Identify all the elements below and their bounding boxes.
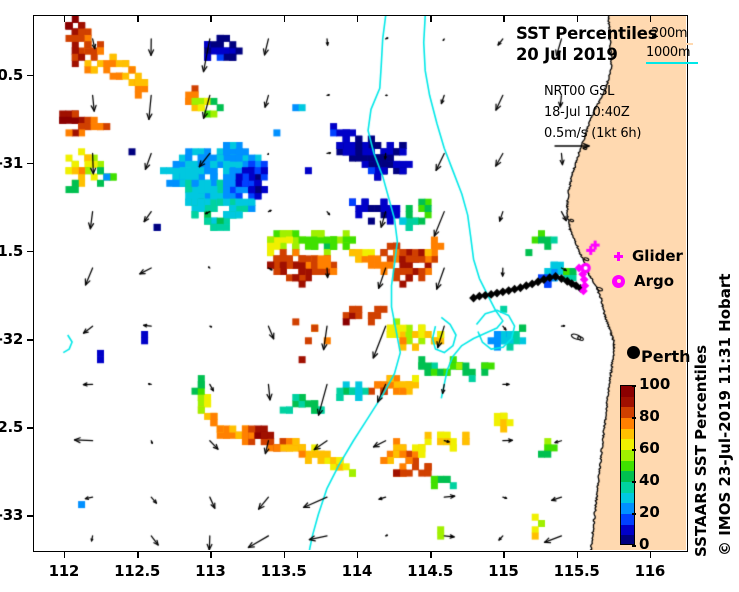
y-tick xyxy=(27,163,34,165)
colorbar-band xyxy=(621,493,634,504)
x-tick-top xyxy=(650,15,652,22)
copyright-credit: © IMOS 23-Jul-2019 11:31 Hobart xyxy=(716,274,734,556)
x-tick-label: 112.5 xyxy=(105,562,169,580)
x-tick-label: 112 xyxy=(32,562,96,580)
colorbar-tick-label: 60 xyxy=(639,439,660,457)
map-plot-area: SST Percentiles 20 Jul 2019 200m 1000m N… xyxy=(33,15,688,552)
legend-label-glider: Glider xyxy=(632,247,683,265)
y-tick-label: -30.5 xyxy=(0,66,23,84)
colorbar-tick xyxy=(632,449,636,451)
x-tick xyxy=(577,551,579,558)
x-tick-top xyxy=(577,15,579,22)
colorbar-band xyxy=(621,514,634,525)
x-tick-top xyxy=(357,15,359,22)
x-tick xyxy=(64,551,66,558)
x-tick-top xyxy=(64,15,66,22)
x-tick-label: 116 xyxy=(618,562,682,580)
y-tick xyxy=(27,75,34,77)
colorbar-tick xyxy=(632,481,636,483)
colorbar-tick xyxy=(632,513,636,515)
colorbar-tick-label: 40 xyxy=(639,471,660,489)
y-tick xyxy=(27,339,34,341)
colorbar-band xyxy=(621,429,634,440)
colorbar-band xyxy=(621,461,634,472)
page-subtitle-date: 20 Jul 2019 xyxy=(516,45,618,64)
colorbar-band xyxy=(621,535,634,545)
x-tick-top xyxy=(137,15,139,22)
y-tick-label: -33 xyxy=(0,506,23,524)
colorbar-band xyxy=(621,450,634,461)
colorbar-tick-label: 0 xyxy=(639,535,649,553)
x-tick-label: 114 xyxy=(325,562,389,580)
colorbar-tick-label: 100 xyxy=(639,375,670,393)
page-title: SST Percentiles xyxy=(516,24,657,43)
colorbar-band xyxy=(621,525,634,536)
glider-cross-icon xyxy=(614,252,623,261)
y-tick-label: -31.5 xyxy=(0,242,23,260)
legend-label-argo: Argo xyxy=(634,272,674,290)
x-tick-top xyxy=(430,15,432,22)
metadata-vector-scale: 0.5m/s (1kt 6h) xyxy=(544,126,641,141)
bathymetry-line-1000m xyxy=(646,62,698,64)
colorbar-tick xyxy=(632,545,636,547)
y-tick xyxy=(27,251,34,253)
y-tick-label: -31 xyxy=(0,154,23,172)
perth-city-dot xyxy=(627,346,640,359)
colorbar-band xyxy=(621,482,634,493)
x-tick xyxy=(210,551,212,558)
colorbar-band xyxy=(621,397,634,408)
legend-item-argo: Argo xyxy=(612,272,674,290)
x-tick xyxy=(137,551,139,558)
colorbar-tick xyxy=(632,385,636,387)
argo-circle-icon xyxy=(612,275,625,288)
bathymetry-label-1000m: 1000m xyxy=(646,45,690,60)
colorbar-tick xyxy=(632,417,636,419)
metadata-timestamp: 18-Jul 10:40Z xyxy=(544,105,630,120)
x-tick xyxy=(503,551,505,558)
perth-city-label: Perth xyxy=(641,347,691,366)
colorbar-tick-label: 20 xyxy=(639,503,660,521)
x-tick-label: 115 xyxy=(471,562,535,580)
metadata-source: NRT00 GSL xyxy=(544,84,614,99)
y-tick-label: -32 xyxy=(0,330,23,348)
colorbar-band xyxy=(621,418,634,429)
x-tick-label: 115.5 xyxy=(545,562,609,580)
colorbar-gradient xyxy=(620,385,635,545)
x-tick-label: 113 xyxy=(178,562,242,580)
x-tick-label: 114.5 xyxy=(398,562,462,580)
y-tick-label: -32.5 xyxy=(0,418,23,436)
bathymetry-label-200m: 200m xyxy=(651,26,687,41)
colorbar-band xyxy=(621,386,634,397)
x-tick xyxy=(430,551,432,558)
x-tick xyxy=(357,551,359,558)
x-tick xyxy=(650,551,652,558)
x-tick-label: 113.5 xyxy=(252,562,316,580)
x-tick-top xyxy=(284,15,286,22)
colorbar-axis-title: SSTAARS SST Percentiles xyxy=(692,345,710,557)
x-tick xyxy=(284,551,286,558)
legend-item-glider: Glider xyxy=(614,247,683,265)
y-tick xyxy=(27,427,34,429)
x-tick-top xyxy=(210,15,212,22)
y-tick xyxy=(27,515,34,517)
colorbar-tick-label: 80 xyxy=(639,407,660,425)
x-tick-top xyxy=(503,15,505,22)
